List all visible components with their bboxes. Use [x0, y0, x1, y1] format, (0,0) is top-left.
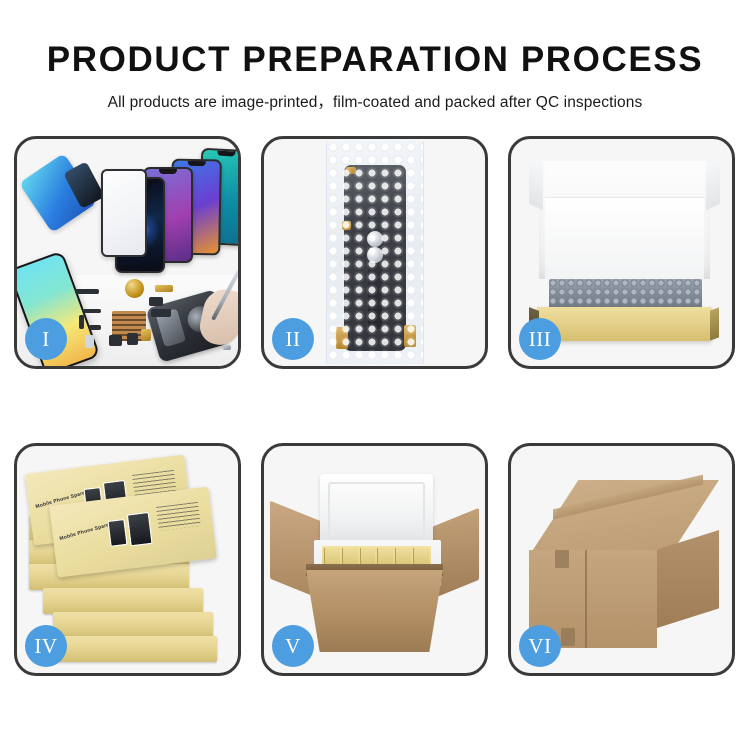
process-step-panel-3[interactable]: III: [508, 136, 735, 369]
screen-glass-protector-icon: [101, 169, 147, 257]
retail-box-layer: [43, 588, 203, 614]
page-header: PRODUCT PREPARATION PROCESS All products…: [0, 0, 750, 112]
retail-box-layer: [53, 612, 213, 638]
taptic-engine-icon: [109, 335, 122, 346]
connector-right-icon: [404, 325, 416, 347]
step-badge-5: V: [272, 625, 314, 667]
process-step-panel-6[interactable]: VI: [508, 443, 735, 676]
process-step-panel-2[interactable]: II: [261, 136, 488, 369]
vibrator-icon: [127, 333, 138, 345]
process-step-panel-5[interactable]: V: [261, 443, 488, 676]
box-spec-text-block: [156, 502, 201, 531]
process-step-panel-1[interactable]: I: [14, 136, 241, 369]
camera-module-icon: [149, 297, 163, 306]
step-badge-3: III: [519, 318, 561, 360]
white-foam-sheet-icon: [545, 197, 704, 280]
page-title: PRODUCT PREPARATION PROCESS: [0, 0, 750, 79]
foam-cooler-lid-icon: [320, 474, 433, 546]
kraft-box-front-icon: [537, 307, 712, 341]
process-step-panel-4[interactable]: Mobile Phone Spare Parts Mobile Phone Sp…: [14, 443, 241, 676]
box-art-phone-small-icon: [107, 519, 127, 547]
ic-chip-lower-icon: [367, 247, 383, 263]
battery-connector-icon: [75, 289, 99, 294]
antenna-strip-icon: [89, 325, 101, 330]
step-badge-4: IV: [25, 625, 67, 667]
gold-flex-cable-icon: [155, 285, 173, 292]
box-art-phone-large-icon: [127, 512, 153, 546]
retail-box-layer: [57, 636, 217, 662]
carton-tab-upper-icon: [555, 550, 569, 568]
gold-contact-icon: [141, 329, 151, 341]
top-tape-icon: [346, 167, 356, 174]
flex-ribbon-vertical-icon: [79, 315, 84, 329]
screw-icon: [223, 345, 231, 350]
page-subtitle: All products are image-printed，film-coat…: [0, 79, 750, 112]
carton-seam-icon: [585, 550, 587, 648]
tape-tab-icon: [342, 221, 351, 230]
screen-flex-cable-icon: [368, 209, 382, 329]
blue-adhesive-film-icon: [19, 153, 97, 233]
step-badge-6: VI: [519, 625, 561, 667]
ic-chip-upper-icon: [367, 231, 383, 247]
sim-tray-icon: [85, 335, 94, 348]
bubble-wrap-layer-icon: [549, 279, 702, 309]
step-badge-1: I: [25, 318, 67, 360]
carton-body-icon: [306, 570, 443, 652]
logic-board-icon: [151, 309, 171, 317]
flex-ribbon-icon: [83, 309, 101, 313]
process-step-grid: I II III: [14, 136, 736, 676]
carton-tab-lower-icon: [561, 628, 575, 646]
connector-left-icon: [336, 327, 348, 349]
step-badge-2: II: [272, 318, 314, 360]
speaker-module-icon: [125, 279, 144, 298]
